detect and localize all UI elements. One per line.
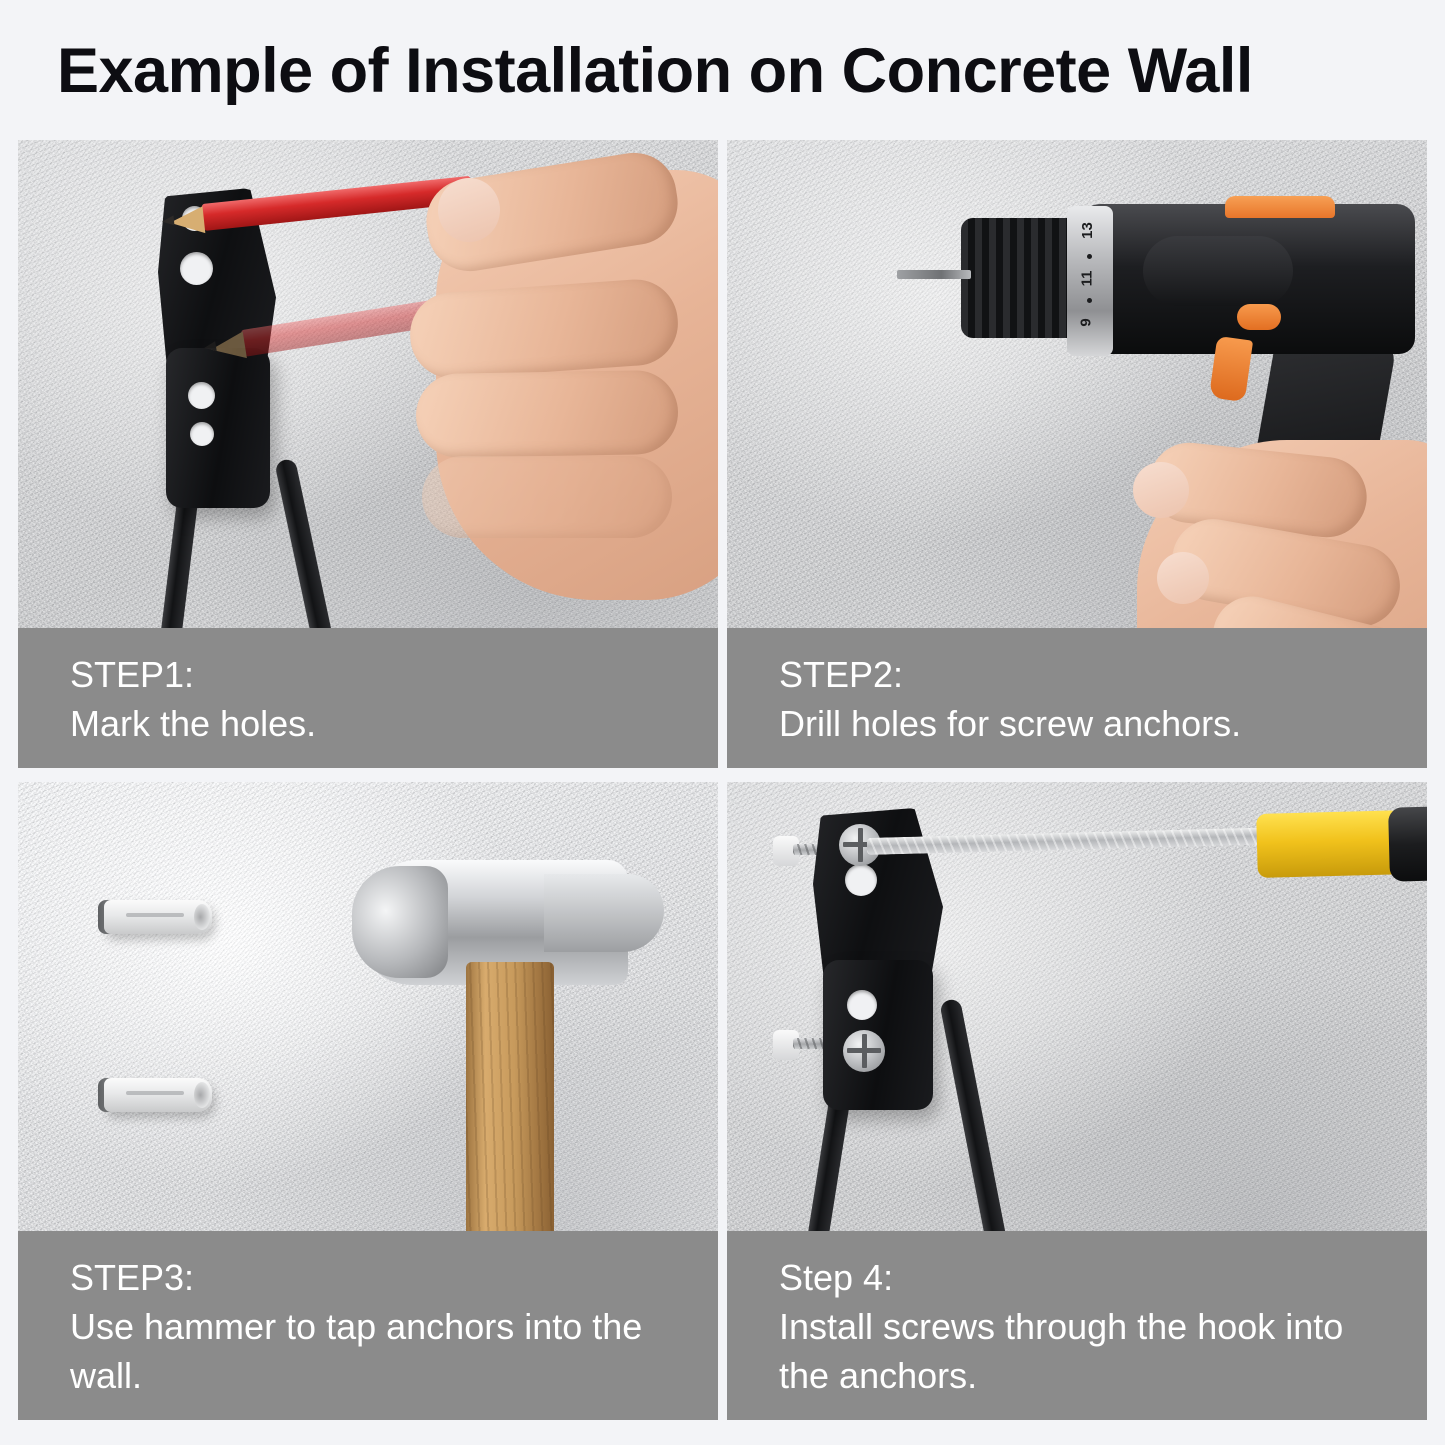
drill-chuck	[961, 218, 1081, 338]
step-2-caption: STEP2: Drill holes for screw anchors.	[727, 628, 1427, 768]
hammer-striking-face	[352, 866, 448, 978]
hammer-claw	[544, 874, 664, 952]
mounting-hole-4	[190, 422, 214, 446]
finger-middle	[415, 370, 678, 459]
step-3-text: Use hammer to tap anchors into the wall.	[70, 1302, 680, 1400]
steps-grid: STEP1: Mark the holes. 13 11 9	[18, 140, 1427, 1420]
anchor-slot	[126, 1091, 184, 1095]
step-panel-1: STEP1: Mark the holes.	[18, 140, 718, 768]
drill-trigger	[1209, 336, 1253, 402]
screw-cross-lower-v	[862, 1034, 867, 1068]
step-2-text: Drill holes for screw anchors.	[779, 699, 1389, 748]
hook-mounting-plate-lower	[166, 348, 270, 508]
step-panel-4: Step 4: Install screws through the hook …	[727, 782, 1427, 1420]
mounting-hole-open-upper	[845, 864, 877, 896]
step-1-text: Mark the holes.	[70, 699, 680, 748]
anchor-slot	[126, 913, 184, 917]
step-4-text: Install screws through the hook into the…	[779, 1302, 1389, 1400]
step-3-caption: STEP3: Use hammer to tap anchors into th…	[18, 1231, 718, 1420]
step-3-label: STEP3:	[70, 1253, 680, 1302]
step-1-caption: STEP1: Mark the holes.	[18, 628, 718, 768]
middle-nail	[1157, 552, 1209, 604]
drill-orange-top-accent	[1225, 196, 1335, 218]
finger-ring	[422, 456, 672, 538]
drill-bit	[897, 270, 971, 279]
mounting-hole-3	[188, 382, 215, 409]
step-2-label: STEP2:	[779, 650, 1389, 699]
clutch-marking-13: 13	[1079, 222, 1096, 239]
step-panel-2: 13 11 9 STEP2: Drill hol	[727, 140, 1427, 768]
step-4-caption: Step 4: Install screws through the hook …	[727, 1231, 1427, 1420]
anchor-body-lower	[104, 1078, 212, 1112]
installation-guide-page: Example of Installation on Concrete Wall	[0, 0, 1445, 1445]
drill-direction-button	[1237, 304, 1281, 330]
screwdriver-handle-yellow	[1256, 810, 1408, 878]
screw-cross-upper-v	[858, 828, 863, 862]
step-1-label: STEP1:	[70, 650, 680, 699]
mounting-hole-open-lower	[847, 990, 877, 1020]
index-nail	[1133, 462, 1189, 518]
page-title: Example of Installation on Concrete Wall	[57, 28, 1397, 114]
clutch-marking-11: 11	[1078, 271, 1095, 287]
clutch-dot-1	[1087, 254, 1092, 259]
step-4-label: Step 4:	[779, 1253, 1389, 1302]
thumb-nail	[438, 178, 500, 242]
clutch-dot-2	[1087, 298, 1092, 303]
drill-grip-pad	[1143, 236, 1293, 306]
anchor-body-upper	[104, 900, 212, 934]
mounting-hole-2	[180, 252, 213, 285]
clutch-marking-9: 9	[1078, 318, 1095, 326]
step-panel-3: STEP3: Use hammer to tap anchors into th…	[18, 782, 718, 1420]
screwdriver-handle-black	[1388, 804, 1427, 881]
drill-clutch-collar: 13 11 9	[1067, 206, 1113, 356]
